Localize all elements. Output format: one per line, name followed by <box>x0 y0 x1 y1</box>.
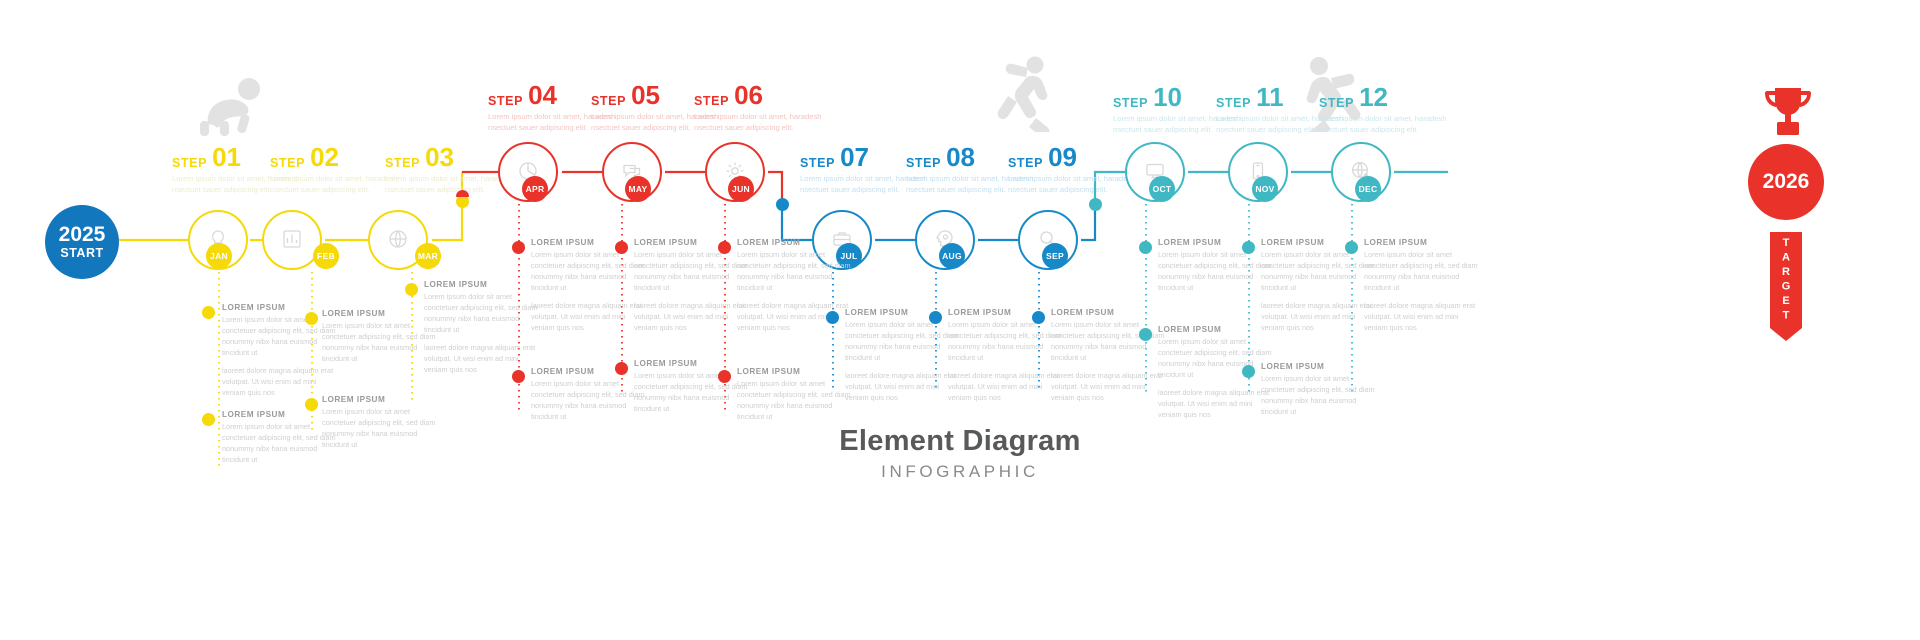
end-milestone[interactable]: 2026 <box>1748 144 1824 220</box>
step-desc: Lorem ipsum dolor sit amet, haradesh nse… <box>1319 113 1469 135</box>
ribbon-notch <box>1770 328 1802 341</box>
detail-dot <box>1345 241 1358 254</box>
detail-heading: LOREM IPSUM <box>424 280 542 289</box>
detail-heading: LOREM IPSUM <box>634 238 752 247</box>
detail-heading: LOREM IPSUM <box>1261 362 1379 371</box>
start-milestone[interactable]: 2025 START <box>45 205 119 279</box>
detail-block-04-a: LOREM IPSUM Lorem ipsum dolor sit amet c… <box>531 238 649 341</box>
detail-block-11-b: LOREM IPSUM Lorem ipsum dolor sit amet c… <box>1261 362 1379 425</box>
start-label: START <box>60 246 103 260</box>
detail-block-06-b: LOREM IPSUM Lorem ipsum dolor sit amet c… <box>737 367 855 430</box>
step-label: STEP <box>172 156 207 170</box>
step-label: STEP <box>1319 96 1354 110</box>
detail-dot <box>826 311 839 324</box>
detail-heading: LOREM IPSUM <box>737 238 855 247</box>
detail-heading: LOREM IPSUM <box>948 308 1066 317</box>
month-label: JUN <box>732 184 750 194</box>
detail-paragraph: Lorem ipsum dolor sit amet conctetuer ad… <box>1051 320 1169 364</box>
running-man-silhouette-1 <box>996 56 1058 132</box>
crawling-baby-silhouette <box>190 76 268 138</box>
detail-dot <box>1242 241 1255 254</box>
detail-paragraph: laoreet dolore magna aliquam erat volutp… <box>845 371 963 404</box>
detail-paragraph: laoreet dolore magna aliquam erat volutp… <box>1261 301 1379 334</box>
detail-dot <box>512 241 525 254</box>
step-desc: Lorem ipsum dolor sit amet, haradesh nse… <box>694 111 844 133</box>
page-subtitle: INFOGRAPHIC <box>0 462 1920 482</box>
step-label: STEP <box>385 156 420 170</box>
step-label: STEP <box>694 94 729 108</box>
month-badge-oct: OCT <box>1149 176 1175 202</box>
detail-dot <box>305 312 318 325</box>
month-badge-aug: AUG <box>939 243 965 269</box>
detail-heading: LOREM IPSUM <box>845 308 963 317</box>
detail-dot <box>1242 365 1255 378</box>
month-badge-sep: SEP <box>1042 243 1068 269</box>
detail-paragraph: Lorem ipsum dolor sit amet conctetuer ad… <box>737 379 855 423</box>
start-year: 2025 <box>59 224 106 246</box>
month-label: MAR <box>418 251 438 261</box>
month-label: MAY <box>628 184 647 194</box>
detail-heading: LOREM IPSUM <box>1261 238 1379 247</box>
step-label: STEP <box>488 94 523 108</box>
month-label: SEP <box>1046 251 1064 261</box>
detail-paragraph: Lorem ipsum dolor sit amet conctetuer ad… <box>1261 250 1379 294</box>
month-badge-dec: DEC <box>1355 176 1381 202</box>
step-number: 05 <box>631 82 660 108</box>
month-label: DEC <box>1359 184 1378 194</box>
step-number: 11 <box>1256 84 1284 110</box>
detail-block-08-a: LOREM IPSUM Lorem ipsum dolor sit amet c… <box>948 308 1066 411</box>
detail-block-11-a: LOREM IPSUM Lorem ipsum dolor sit amet c… <box>1261 238 1379 341</box>
detail-paragraph: Lorem ipsum dolor sit amet conctetuer ad… <box>1364 250 1482 294</box>
month-label: JAN <box>210 251 228 261</box>
month-badge-feb: FEB <box>313 243 339 269</box>
detail-block-02-a: LOREM IPSUM Lorem ipsum dolor sit amet c… <box>322 309 440 372</box>
detail-heading: LOREM IPSUM <box>322 309 440 318</box>
detail-dot <box>929 311 942 324</box>
detail-paragraph: laoreet dolore magna aliquam erat volutp… <box>531 301 649 334</box>
step-number: 08 <box>946 144 975 170</box>
detail-dot <box>1032 311 1045 324</box>
detail-dot <box>512 370 525 383</box>
detail-block-06-a: LOREM IPSUM Lorem ipsum dolor sit amet c… <box>737 238 855 341</box>
junction-dot-blue-teal <box>1089 198 1102 211</box>
detail-paragraph: Lorem ipsum dolor sit amet conctetuer ad… <box>845 320 963 364</box>
detail-paragraph: laoreet dolore magna aliquam erat volutp… <box>424 343 542 376</box>
detail-paragraph: Lorem ipsum dolor sit amet conctetuer ad… <box>1261 374 1379 418</box>
detail-dot <box>1139 328 1152 341</box>
detail-paragraph: Lorem ipsum dolor sit amet conctetuer ad… <box>634 250 752 294</box>
step-label: STEP <box>906 156 941 170</box>
step-number: 12 <box>1359 84 1388 110</box>
detail-block-12-a: LOREM IPSUM Lorem ipsum dolor sit amet c… <box>1364 238 1482 341</box>
detail-block-05-a: LOREM IPSUM Lorem ipsum dolor sit amet c… <box>634 238 752 341</box>
detail-paragraph: laoreet dolore magna aliquam erat volutp… <box>948 371 1066 404</box>
detail-block-05-b: LOREM IPSUM Lorem ipsum dolor sit amet c… <box>634 359 752 422</box>
detail-block-10-b: LOREM IPSUM Lorem ipsum dolor sit amet c… <box>1158 325 1276 428</box>
detail-heading: LOREM IPSUM <box>737 367 855 376</box>
month-badge-mar: MAR <box>415 243 441 269</box>
step-label: STEP <box>1113 96 1148 110</box>
detail-dot <box>718 370 731 383</box>
page-title: Element Diagram <box>0 425 1920 458</box>
target-ribbon: TARGET <box>1770 232 1802 328</box>
step-number: 01 <box>212 144 241 170</box>
detail-heading: LOREM IPSUM <box>531 367 649 376</box>
month-label: NOV <box>1255 184 1274 194</box>
step-number: 02 <box>310 144 339 170</box>
month-badge-jan: JAN <box>206 243 232 269</box>
month-label: FEB <box>317 251 335 261</box>
step-number: 03 <box>425 144 454 170</box>
detail-heading: LOREM IPSUM <box>634 359 752 368</box>
detail-heading: LOREM IPSUM <box>1051 308 1169 317</box>
step-header-06: STEP06 Lorem ipsum dolor sit amet, harad… <box>694 82 844 133</box>
step-label: STEP <box>1216 96 1251 110</box>
detail-heading: LOREM IPSUM <box>1158 238 1276 247</box>
month-badge-jun: JUN <box>728 176 754 202</box>
step-header-12: STEP12 Lorem ipsum dolor sit amet, harad… <box>1319 84 1469 135</box>
detail-dot <box>718 241 731 254</box>
step-number: 04 <box>528 82 557 108</box>
detail-paragraph: Lorem ipsum dolor sit amet conctetuer ad… <box>948 320 1066 364</box>
detail-block-07-a: LOREM IPSUM Lorem ipsum dolor sit amet c… <box>845 308 963 411</box>
target-ribbon-label: TARGET <box>1770 232 1802 328</box>
trophy-icon <box>1762 84 1814 146</box>
detail-dot <box>615 362 628 375</box>
detail-dot <box>1139 241 1152 254</box>
detail-heading: LOREM IPSUM <box>1364 238 1482 247</box>
detail-paragraph: laoreet dolore magna aliquam erat volutp… <box>1158 388 1276 421</box>
detail-dot <box>405 283 418 296</box>
detail-paragraph: Lorem ipsum dolor sit amet conctetuer ad… <box>1158 337 1276 381</box>
detail-paragraph: Lorem ipsum dolor sit amet conctetuer ad… <box>634 371 752 415</box>
step-number: 06 <box>734 82 763 108</box>
month-label: OCT <box>1153 184 1172 194</box>
step-label: STEP <box>800 156 835 170</box>
junction-dot-red-blue <box>776 198 789 211</box>
detail-dot <box>202 306 215 319</box>
step-number: 09 <box>1048 144 1077 170</box>
month-badge-may: MAY <box>625 176 651 202</box>
step-number: 10 <box>1153 84 1182 110</box>
infographic-canvas: 2025 START 2026 TARGET STEP01 Lorem ipsu… <box>0 0 1920 640</box>
detail-paragraph: Lorem ipsum dolor sit amet conctetuer ad… <box>737 250 855 294</box>
detail-dot <box>615 241 628 254</box>
detail-dot <box>305 398 318 411</box>
detail-heading: LOREM IPSUM <box>1158 325 1276 334</box>
title-block: Element Diagram INFOGRAPHIC <box>0 425 1920 482</box>
step-number: 07 <box>840 144 869 170</box>
detail-heading: LOREM IPSUM <box>531 238 649 247</box>
detail-paragraph: Lorem ipsum dolor sit amet conctetuer ad… <box>531 250 649 294</box>
month-label: AUG <box>942 251 962 261</box>
month-badge-nov: NOV <box>1252 176 1278 202</box>
detail-paragraph: Lorem ipsum dolor sit amet conctetuer ad… <box>531 379 649 423</box>
detail-paragraph: laoreet dolore magna aliquam erat volutp… <box>1051 371 1169 404</box>
end-year: 2026 <box>1763 171 1810 193</box>
detail-block-09-a: LOREM IPSUM Lorem ipsum dolor sit amet c… <box>1051 308 1169 411</box>
detail-paragraph: Lorem ipsum dolor sit amet conctetuer ad… <box>1158 250 1276 294</box>
detail-block-10-a: LOREM IPSUM Lorem ipsum dolor sit amet c… <box>1158 238 1276 301</box>
globe-icon <box>387 228 409 250</box>
detail-paragraph: laoreet dolore magna aliquam erat volutp… <box>1364 301 1482 334</box>
detail-block-04-b: LOREM IPSUM Lorem ipsum dolor sit amet c… <box>531 367 649 430</box>
detail-paragraph: Lorem ipsum dolor sit amet conctetuer ad… <box>322 321 440 365</box>
detail-heading: LOREM IPSUM <box>322 395 440 404</box>
bar-chart-icon <box>281 228 303 250</box>
detail-block-03-a: LOREM IPSUM Lorem ipsum dolor sit amet c… <box>424 280 542 383</box>
month-badge-apr: APR <box>522 176 548 202</box>
step-label: STEP <box>1008 156 1043 170</box>
detail-paragraph: laoreet dolore magna aliquam erat volutp… <box>634 301 752 334</box>
junction-dot-yellow-red-top <box>456 190 469 197</box>
month-label: APR <box>526 184 545 194</box>
step-label: STEP <box>270 156 305 170</box>
step-label: STEP <box>591 94 626 108</box>
detail-paragraph: Lorem ipsum dolor sit amet conctetuer ad… <box>424 292 542 336</box>
